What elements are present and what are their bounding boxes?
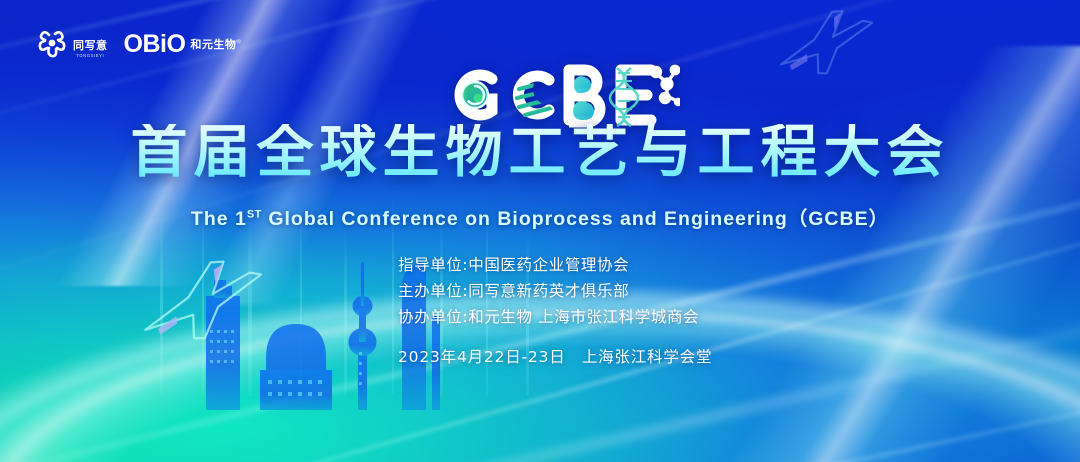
tongxieyi-cn-text: 同写意: [73, 41, 108, 52]
organizer-host: 主办单位:同写意新药英才俱乐部: [398, 278, 699, 304]
organizer-cohost: 协办单位:和元生物 上海市张江科学城商会: [398, 304, 699, 330]
airplane-top-right-icon: [770, 6, 880, 78]
trademark-symbol: ®: [236, 39, 241, 45]
conference-title-en: The 1ST Global Conference on Bioprocess …: [0, 202, 1080, 231]
conference-title-cn: 首届全球生物工艺与工程大会: [0, 124, 1080, 181]
conference-banner: 同写意 TONGXIEYI OBiO 和元生物®: [0, 0, 1080, 462]
organizer-list: 指导单位:中国医药企业管理协会 主办单位:同写意新药英才俱乐部 协办单位:和元生…: [398, 252, 699, 330]
event-datetime-venue: 2023年4月22日-23日 上海张江科学会堂: [398, 345, 712, 367]
obio-wordmark: OBiO: [124, 32, 186, 57]
tongxieyi-logo[interactable]: 同写意 TONGXIEYI: [36, 28, 108, 60]
molecule-icon: [650, 65, 680, 107]
flower-logo-icon: [36, 28, 70, 60]
title-en-ordinal: ST: [247, 209, 262, 221]
airplane-left-icon: [128, 254, 278, 344]
gcbe-letter-e: [610, 68, 651, 126]
obio-cn-text: 和元生物®: [190, 36, 241, 52]
gcbe-letter-c: [517, 76, 551, 115]
gcbe-letter-g: [460, 75, 492, 115]
title-en-before: The 1: [191, 208, 247, 230]
gcbe-letter-b: [569, 70, 600, 122]
title-en-after: Global Conference on Bioprocess and Engi…: [262, 208, 889, 230]
organizer-guidance: 指导单位:中国医药企业管理协会: [398, 252, 699, 278]
obio-logo[interactable]: OBiO 和元生物®: [124, 32, 242, 57]
tongxieyi-wordmark: 同写意 TONGXIEYI: [73, 41, 108, 60]
tongxieyi-en-text: TONGXIEYI: [76, 54, 104, 58]
sponsor-logos: 同写意 TONGXIEYI OBiO 和元生物®: [36, 28, 241, 60]
